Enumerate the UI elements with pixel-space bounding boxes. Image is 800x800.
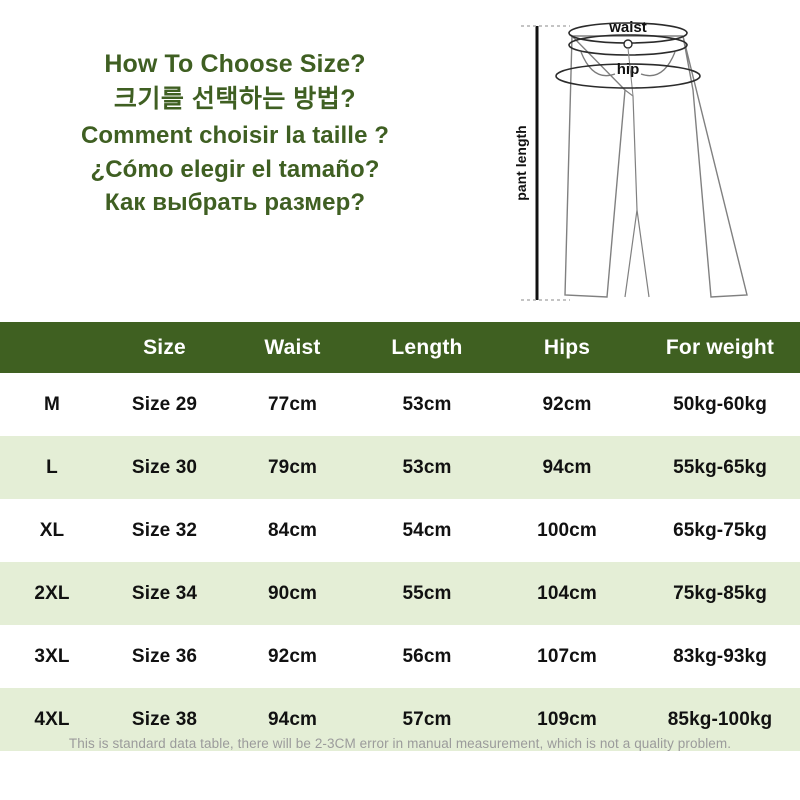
cell-weight: 55kg-65kg [640, 436, 800, 499]
cell-waist: 84cm [225, 499, 360, 562]
cell-waist: 92cm [225, 625, 360, 688]
cell-size-number: Size 36 [104, 625, 225, 688]
cell-size-number: Size 34 [104, 562, 225, 625]
hip-label: hip [617, 61, 640, 78]
table-row: 3XL Size 36 92cm 56cm 107cm 83kg-93kg [0, 625, 800, 688]
table-row: 2XL Size 34 90cm 55cm 104cm 75kg-85kg [0, 562, 800, 625]
cell-length: 53cm [360, 436, 494, 499]
cell-size-number: Size 29 [104, 373, 225, 436]
heading-korean: 크기를 선택하는 방법? [0, 83, 470, 116]
header-section: How To Choose Size? 크기를 선택하는 방법? Comment… [0, 0, 800, 322]
cell-size-label: 2XL [0, 562, 104, 625]
cell-length: 55cm [360, 562, 494, 625]
table-row: L Size 30 79cm 53cm 94cm 55kg-65kg [0, 436, 800, 499]
heading-spanish: ¿Cómo elegir el tamaño? [0, 154, 470, 186]
cell-size-label: L [0, 436, 104, 499]
cell-size-label: 3XL [0, 625, 104, 688]
table-header-row: Size Waist Length Hips For weight [0, 322, 800, 373]
pant-length-label: pant length [515, 125, 529, 200]
cell-weight: 83kg-93kg [640, 625, 800, 688]
table-row: M Size 29 77cm 53cm 92cm 50kg-60kg [0, 373, 800, 436]
column-header-waist: Waist [225, 322, 360, 373]
cell-size-number: Size 32 [104, 499, 225, 562]
pants-measurement-diagram: waist hip pant length [515, 0, 800, 322]
waist-label: waist [608, 19, 647, 36]
cell-size-number: Size 30 [104, 436, 225, 499]
cell-length: 54cm [360, 499, 494, 562]
cell-hips: 100cm [494, 499, 640, 562]
heading-russian: Как выбрать размер? [0, 187, 470, 219]
column-header-hips: Hips [494, 322, 640, 373]
column-header-length: Length [360, 322, 494, 373]
cell-waist: 90cm [225, 562, 360, 625]
cell-hips: 104cm [494, 562, 640, 625]
cell-weight: 50kg-60kg [640, 373, 800, 436]
table-row: XL Size 32 84cm 54cm 100cm 65kg-75kg [0, 499, 800, 562]
heading-english: How To Choose Size? [0, 48, 470, 81]
measurement-disclaimer: This is standard data table, there will … [0, 734, 800, 754]
column-header-blank [0, 322, 104, 373]
column-header-size: Size [104, 322, 225, 373]
multilingual-heading-block: How To Choose Size? 크기를 선택하는 방법? Comment… [0, 48, 470, 219]
cell-size-label: XL [0, 499, 104, 562]
cell-hips: 94cm [494, 436, 640, 499]
cell-weight: 65kg-75kg [640, 499, 800, 562]
cell-hips: 92cm [494, 373, 640, 436]
cell-length: 53cm [360, 373, 494, 436]
cell-waist: 79cm [225, 436, 360, 499]
column-header-forweight: For weight [640, 322, 800, 373]
button-icon [624, 40, 632, 48]
size-chart-table: Size Waist Length Hips For weight M Size… [0, 322, 800, 751]
cell-length: 56cm [360, 625, 494, 688]
cell-hips: 107cm [494, 625, 640, 688]
heading-french: Comment choisir la taille ? [0, 120, 470, 152]
cell-size-label: M [0, 373, 104, 436]
cell-weight: 75kg-85kg [640, 562, 800, 625]
cell-waist: 77cm [225, 373, 360, 436]
